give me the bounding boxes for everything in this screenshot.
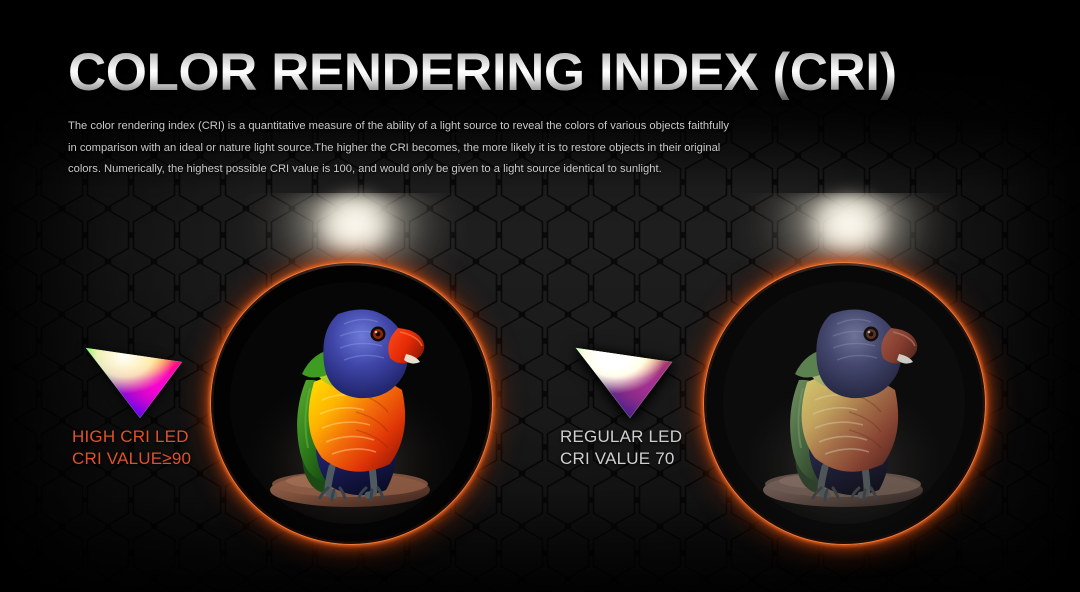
high-cri-label-line-2: CRI VALUE≥90 xyxy=(72,448,191,470)
description-line-1: The color rendering index (CRI) is a qua… xyxy=(68,116,768,138)
header: COLOR RENDERING INDEX (CRI) The color re… xyxy=(68,46,968,181)
rainbow-lorikeet-muted xyxy=(703,262,986,545)
description-line-3: colors. Numerically, the highest possibl… xyxy=(68,159,768,181)
description-paragraph: The color rendering index (CRI) is a qua… xyxy=(68,116,768,181)
regular-led-sample-circle xyxy=(703,262,986,545)
high-cri-sample-circle xyxy=(210,262,493,545)
color-gamut-triangle-saturated xyxy=(78,338,188,420)
poster-canvas: COLOR RENDERING INDEX (CRI) The color re… xyxy=(0,0,1080,592)
high-cri-label-line-1: HIGH CRI LED xyxy=(72,426,191,448)
regular-led-label: REGULAR LED CRI VALUE 70 xyxy=(560,426,682,471)
color-gamut-triangle-desaturated xyxy=(568,338,678,420)
description-line-2: in comparison with an ideal or nature li… xyxy=(68,138,768,160)
page-title: COLOR RENDERING INDEX (CRI) xyxy=(68,46,968,100)
rainbow-lorikeet-vivid xyxy=(210,262,493,545)
regular-led-label-line-1: REGULAR LED xyxy=(560,426,682,448)
high-cri-label: HIGH CRI LED CRI VALUE≥90 xyxy=(72,426,191,471)
regular-led-label-line-2: CRI VALUE 70 xyxy=(560,448,682,470)
